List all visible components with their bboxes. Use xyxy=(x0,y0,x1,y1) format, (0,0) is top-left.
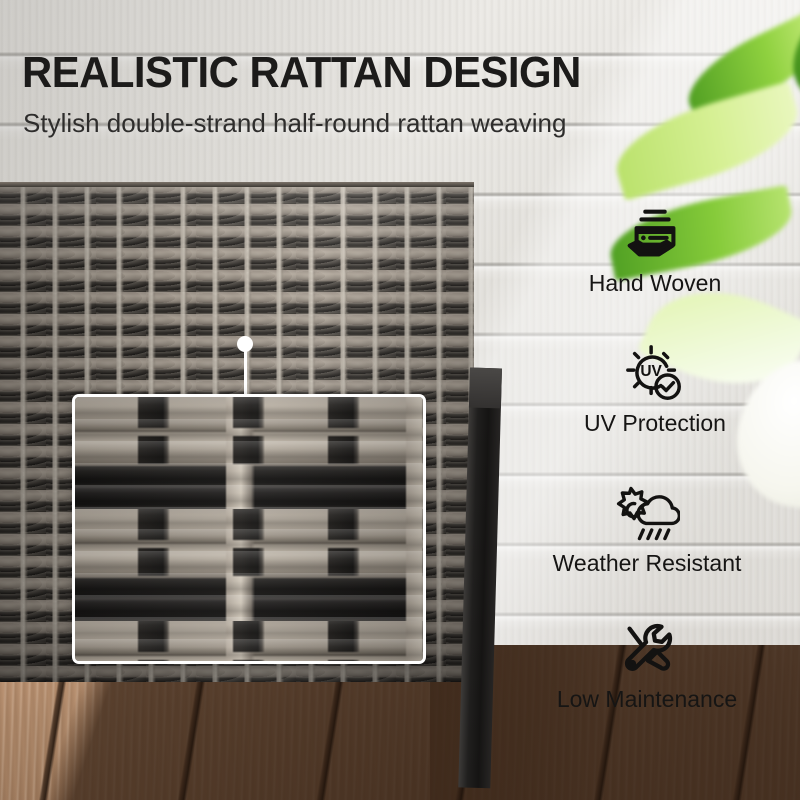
rattan-top-rim xyxy=(0,182,474,187)
feature-label: UV Protection xyxy=(535,410,775,437)
magnified-weave-gloss xyxy=(75,397,423,661)
rattan-detail-callout xyxy=(72,394,426,664)
metal-post-leg-highlight xyxy=(469,368,502,409)
feature-weather-resistant: Weather Resistant xyxy=(527,478,767,577)
callout-pointer-dot xyxy=(237,336,253,352)
feature-hand-woven: Hand Woven xyxy=(535,198,775,297)
feature-label: Low Maintenance xyxy=(527,686,767,713)
sun-uv-check-icon: UV xyxy=(535,338,775,410)
wrench-screwdriver-icon xyxy=(527,614,767,686)
sun-cloud-rain-icon xyxy=(527,478,767,550)
feature-uv-protection: UV UV Protection xyxy=(535,338,775,437)
product-infographic: REALISTIC RATTAN DESIGN Stylish double-s… xyxy=(0,0,800,800)
feature-label: Weather Resistant xyxy=(527,550,767,577)
hand-holding-woven-basket-icon xyxy=(535,198,775,270)
feature-low-maintenance: Low Maintenance xyxy=(527,614,767,713)
page-subtitle: Stylish double-strand half-round rattan … xyxy=(23,108,566,139)
feature-label: Hand Woven xyxy=(535,270,775,297)
page-title: REALISTIC RATTAN DESIGN xyxy=(22,48,581,98)
callout-pointer-line xyxy=(244,350,247,396)
